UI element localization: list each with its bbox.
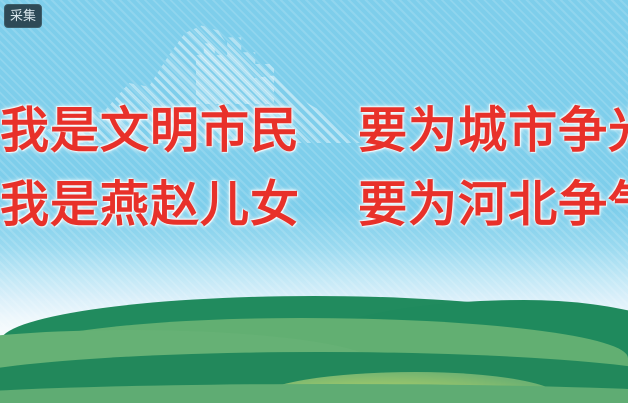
headline-line-2-left: 我是燕赵儿女 <box>0 176 300 233</box>
headline-line-1: 我是文明市民 要为城市争光 <box>0 106 628 155</box>
headline-line-1-left: 我是文明市民 <box>0 102 300 159</box>
headline-line-2-right: 要为河北争气 <box>358 176 628 233</box>
sky-stripe-texture <box>0 0 628 340</box>
poster-canvas: 我是文明市民 要为城市争光 我是燕赵儿女 要为河北争气 采集 <box>0 0 628 403</box>
headline-line-2: 我是燕赵儿女 要为河北争气 <box>0 180 628 229</box>
headline-line-1-right: 要为城市争光 <box>358 102 628 159</box>
hill-front <box>0 384 628 403</box>
capture-button[interactable]: 采集 <box>4 4 42 28</box>
